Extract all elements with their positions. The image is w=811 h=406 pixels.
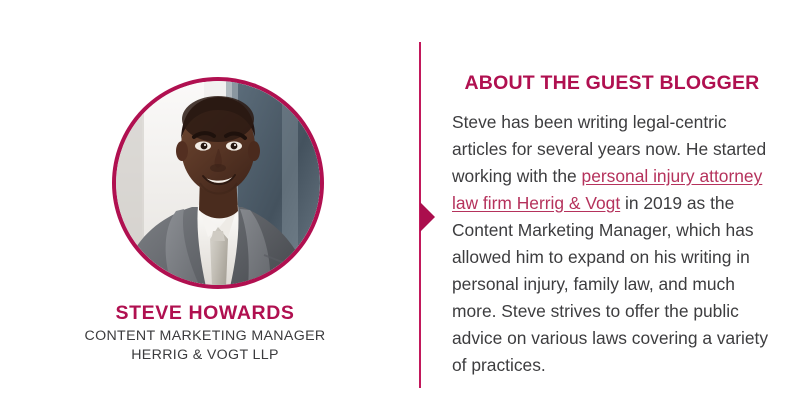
avatar [112,77,324,289]
guest-blogger-card: STEVE HOWARDS CONTENT MARKETING MANAGER … [0,0,811,406]
about-panel: ABOUT THE GUEST BLOGGER Steve has been w… [452,72,772,379]
about-heading: ABOUT THE GUEST BLOGGER [452,72,772,95]
arrow-right-icon [420,202,435,232]
profile-block: STEVE HOWARDS CONTENT MARKETING MANAGER … [0,0,410,406]
about-body: Steve has been writing legal-centric art… [452,109,772,379]
about-text-after-link: in 2019 as the Content Marketing Manager… [452,193,768,375]
profile-role: CONTENT MARKETING MANAGER [0,327,410,346]
profile-name: STEVE HOWARDS [0,303,410,324]
avatar-clip [116,81,320,285]
profile-firm: HERRIG & VOGT LLP [0,346,410,365]
avatar-photo [116,81,320,285]
identity-block: STEVE HOWARDS CONTENT MARKETING MANAGER … [0,303,410,365]
